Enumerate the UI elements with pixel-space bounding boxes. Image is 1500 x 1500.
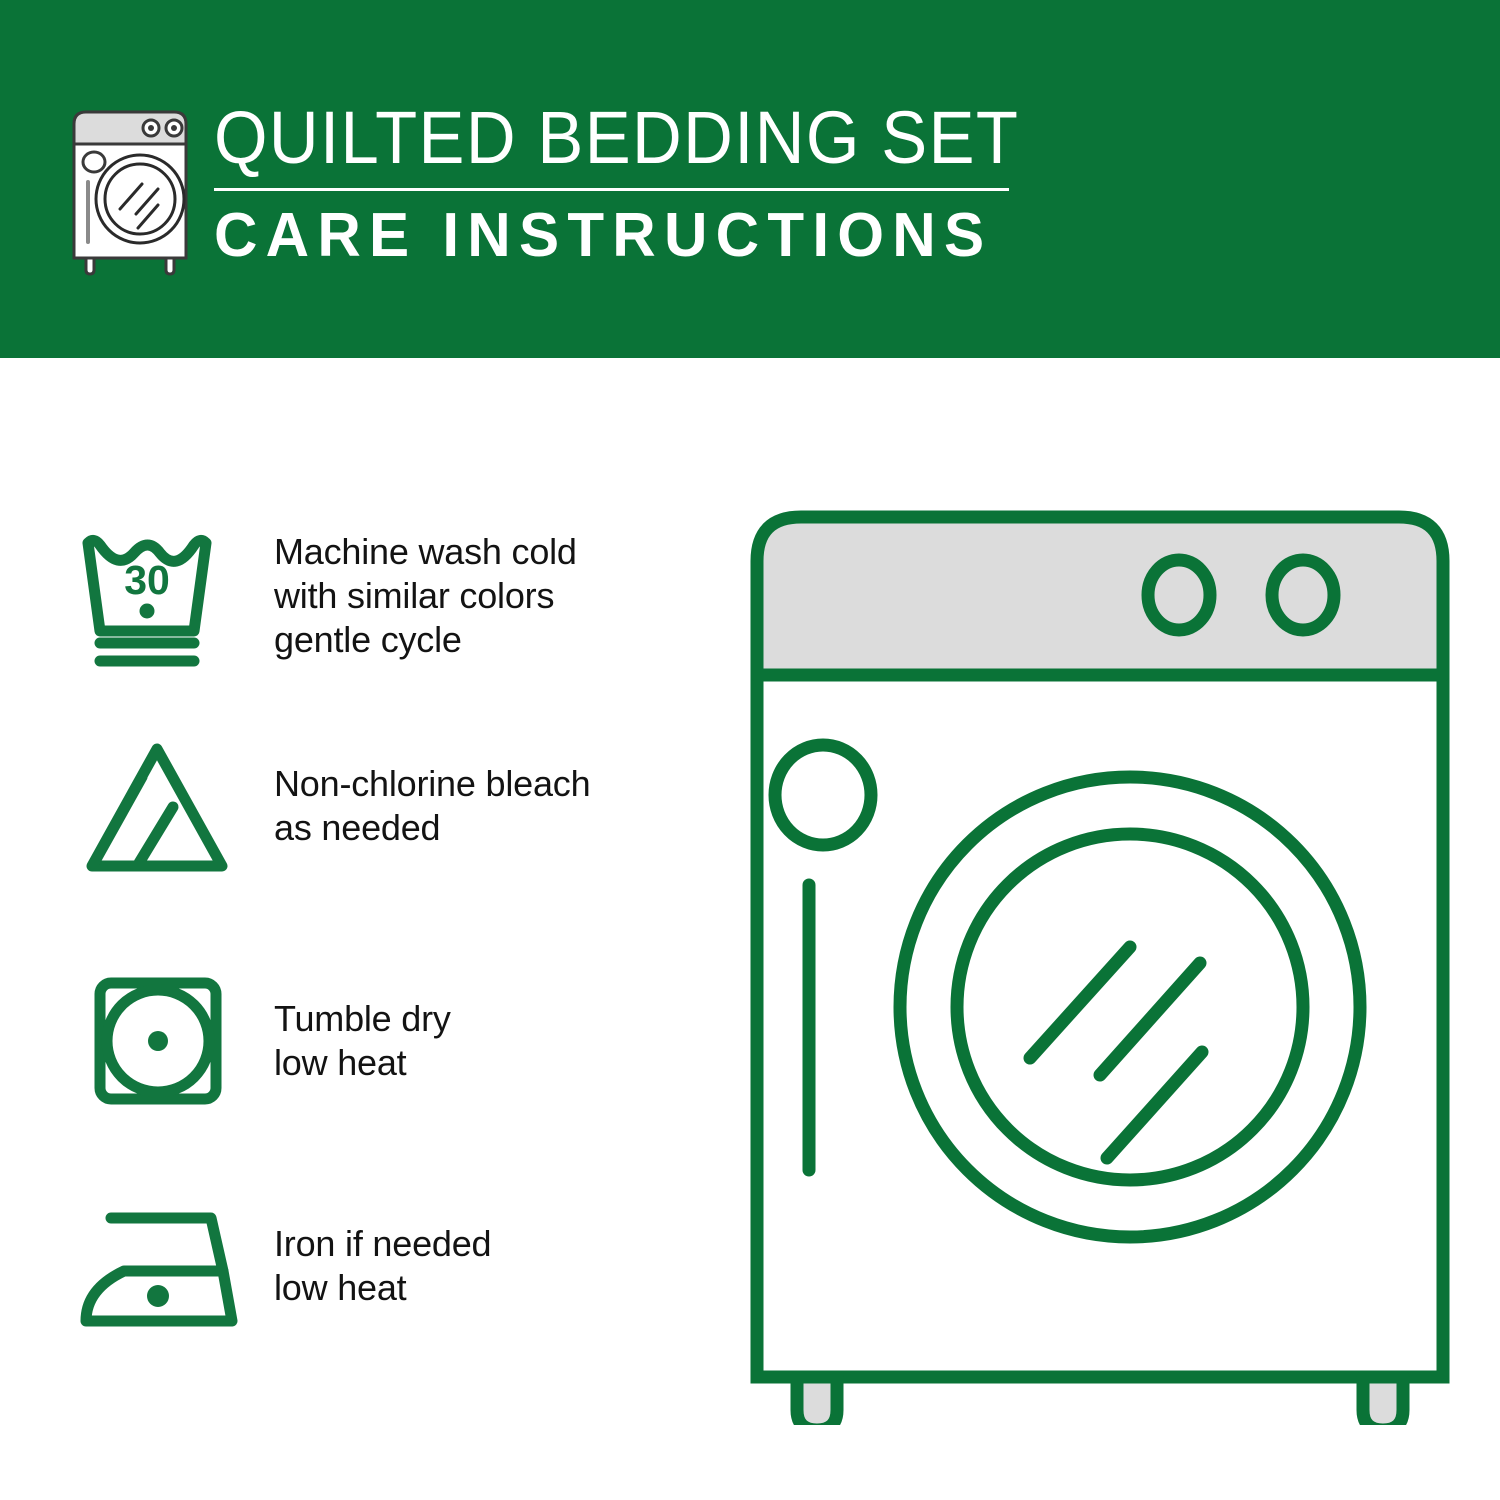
washing-machine-icon [64,104,196,276]
care-line: low heat [274,1266,730,1310]
machine-leg [797,1377,837,1425]
indicator-light-icon [775,745,871,845]
machine-leg [1363,1377,1403,1425]
care-line: Iron if needed [274,1222,730,1266]
care-line: gentle cycle [274,618,730,662]
care-line: low heat [274,1041,730,1085]
washing-machine-illustration [735,495,1465,1425]
care-row-tumble-dry: Tumble dry low heat [0,953,730,1128]
header-text-block: QUILTED BEDDING SET CARE INSTRUCTIONS [214,98,1014,271]
care-instruction-list: 30 Machine wash cold with similar colors… [0,358,730,1500]
page-subtitle: CARE INSTRUCTIONS [214,201,990,271]
care-text-tumble-dry: Tumble dry low heat [274,997,730,1085]
care-line: Machine wash cold [274,530,730,574]
wash-tub-30-icon: 30 [62,521,252,671]
care-row-bleach: Non-chlorine bleach as needed [0,718,730,893]
bleach-triangle-icon [62,731,252,881]
title-divider [214,188,1009,191]
iron-low-heat-icon [62,1191,252,1341]
care-line: as needed [274,806,730,850]
care-text-iron: Iron if needed low heat [274,1222,730,1310]
header-band: QUILTED BEDDING SET CARE INSTRUCTIONS [0,0,1500,358]
control-knob-icon [1272,560,1334,630]
wash-temperature-value: 30 [124,557,170,603]
care-line: Tumble dry [274,997,730,1041]
control-knob-icon [1148,560,1210,630]
care-row-machine-wash: 30 Machine wash cold with similar colors… [0,508,730,683]
care-line: with similar colors [274,574,730,618]
care-instructions-page: QUILTED BEDDING SET CARE INSTRUCTIONS 30 [0,0,1500,1500]
page-title: QUILTED BEDDING SET [214,98,958,178]
care-text-machine-wash: Machine wash cold with similar colors ge… [274,530,730,662]
tumble-dry-low-icon [62,966,252,1116]
care-row-iron: Iron if needed low heat [0,1178,730,1353]
care-line: Non-chlorine bleach [274,762,730,806]
care-text-bleach: Non-chlorine bleach as needed [274,762,730,850]
